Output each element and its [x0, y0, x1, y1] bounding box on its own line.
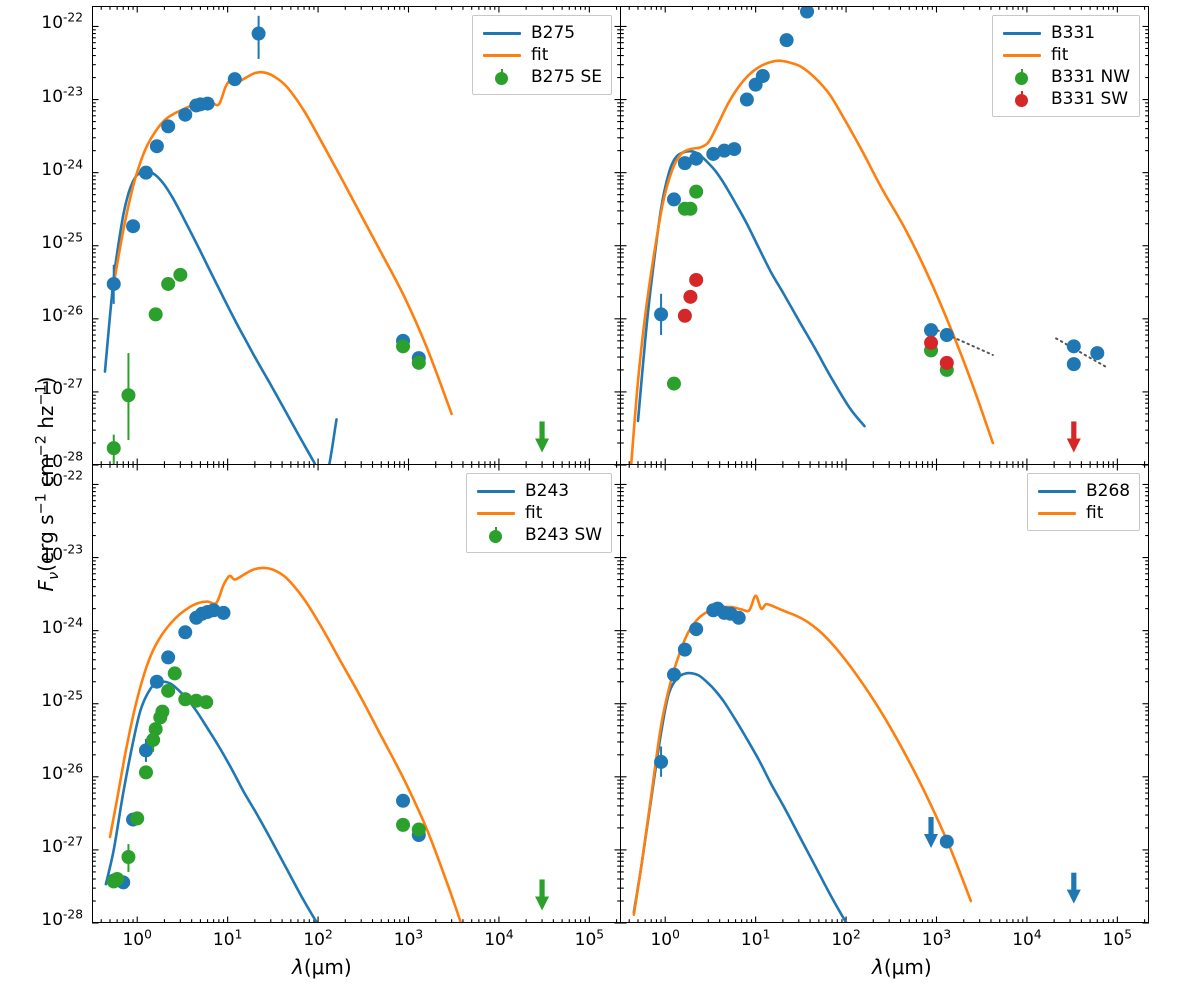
data-point-B243-SW [155, 705, 169, 719]
legend-label: B331 NW [1043, 67, 1130, 87]
legend-B331: B331fitB331 NWB331 SW [992, 15, 1140, 117]
legend-line-swatch [481, 44, 523, 66]
data-point-B331-SW [689, 273, 703, 287]
legend-entry-fit[interactable]: fit [481, 44, 602, 66]
legend-entry-fit[interactable]: fit [1036, 502, 1130, 524]
legend-line [483, 32, 521, 35]
legend-entry-B243[interactable]: B243 [475, 480, 602, 502]
legend-label: B243 [517, 481, 569, 501]
legend-entry-fit[interactable]: fit [1001, 44, 1130, 66]
legend-label: B331 [1043, 23, 1095, 43]
data-point-B243-photometry [217, 606, 231, 620]
legend-entry-B275-SE[interactable]: B275 SE [481, 66, 602, 88]
y-tick--24-p0: 10-24 [41, 160, 83, 180]
data-point-B275-SE [107, 441, 121, 455]
legend-line [483, 54, 521, 57]
data-point-B331-photometry [756, 69, 770, 83]
data-point-B331-photometry [924, 323, 938, 337]
legend-B243: B243fitB243 SW [466, 473, 612, 553]
upper-limit-arrow [535, 879, 549, 910]
data-point-B275-photometry [178, 108, 192, 122]
data-point-B268-photometry [654, 755, 668, 769]
data-point-B243-SW [110, 872, 124, 886]
x-tick-0-p0: 100 [122, 930, 151, 950]
legend-B275: B275fitB275 SE [472, 15, 612, 95]
y-tick--23-p0: 10-23 [41, 87, 83, 107]
upper-limit-arrow [924, 817, 938, 848]
data-point-B275-SE [173, 268, 187, 282]
legend-label: fit [1043, 45, 1068, 65]
legend-marker-swatch [481, 66, 523, 88]
data-point-B331-photometry [727, 142, 741, 156]
data-point-B243-SW [130, 811, 144, 825]
legend-entry-B275[interactable]: B275 [481, 22, 602, 44]
y-tick--23-p1: 10-23 [41, 545, 83, 565]
x-tick-4-p1: 104 [1012, 930, 1041, 950]
data-point-B331-SW [924, 336, 938, 350]
legend-line [1038, 490, 1076, 493]
data-point-B331-SW [940, 356, 954, 370]
y-tick--25-p1: 10-25 [41, 691, 83, 711]
y-tick--26-p0: 10-26 [41, 306, 83, 326]
panel-series-B268 [634, 596, 1081, 947]
data-point-B275-SE [412, 356, 426, 370]
data-point-B275-SE [161, 277, 175, 291]
data-point-B275-photometry [252, 27, 266, 41]
data-point-B243-SW [412, 823, 426, 837]
data-point-B268-photometry [678, 643, 692, 657]
data-point-B275-SE [396, 339, 410, 353]
data-point-B268-photometry [940, 835, 954, 849]
data-point-B331-SW [678, 309, 692, 323]
x-tick-5-p1: 105 [1103, 930, 1132, 950]
upper-limit-arrow [1067, 421, 1081, 452]
y-tick--27-p1: 10-27 [41, 837, 83, 857]
legend-line-swatch [1036, 502, 1078, 524]
y-tick--24-p1: 10-24 [41, 618, 83, 638]
upper-limit-arrow [535, 421, 549, 452]
data-point-B331-photometry [667, 192, 681, 206]
curve-B275 [105, 171, 337, 483]
data-point-B331-NW [667, 377, 681, 391]
y-tick--26-p1: 10-26 [41, 764, 83, 784]
legend-marker-swatch [1001, 88, 1043, 110]
upper-limit-arrow [1067, 873, 1081, 904]
legend-label: fit [517, 503, 542, 523]
y-tick--27-p0: 10-27 [41, 379, 83, 399]
data-point-B243-SW [121, 850, 135, 864]
data-point-B331-photometry [689, 152, 703, 166]
legend-entry-B331[interactable]: B331 [1001, 22, 1130, 44]
data-point-B331-photometry [740, 93, 754, 107]
curve-B268 [634, 673, 865, 946]
legend-label: B268 [1078, 481, 1130, 501]
legend-entry-B268[interactable]: B268 [1036, 480, 1130, 502]
data-point-B268-photometry [667, 668, 681, 682]
legend-line [477, 490, 515, 493]
data-point-B268-photometry [689, 622, 703, 636]
legend-marker [1015, 69, 1028, 85]
data-point-B275-photometry [126, 219, 140, 233]
legend-entry-B331-NW[interactable]: B331 NW [1001, 66, 1130, 88]
legend-line [1003, 32, 1041, 35]
data-point-B243-photometry [178, 625, 192, 639]
data-point-B243-SW [396, 818, 410, 832]
y-tick--22-p1: 10-22 [41, 471, 83, 491]
y-tick--28-p1: 10-28 [41, 910, 83, 930]
data-point-B243-SW [161, 684, 175, 698]
legend-line-swatch [1001, 22, 1043, 44]
data-point-B331-photometry [1067, 339, 1081, 353]
data-point-B331-photometry [780, 33, 794, 47]
y-tick--22-p0: 10-22 [41, 13, 83, 33]
legend-label: B275 SE [523, 67, 602, 87]
legend-label: fit [1078, 503, 1103, 523]
data-point-B331-photometry [654, 307, 668, 321]
data-point-B243-photometry [396, 794, 410, 808]
data-point-B275-photometry [228, 72, 242, 86]
x-tick-4-p0: 104 [484, 930, 513, 950]
data-point-B331-photometry [800, 5, 814, 19]
x-tick-2-p1: 102 [831, 930, 860, 950]
data-point-B331-photometry [1067, 357, 1081, 371]
legend-entry-fit[interactable]: fit [475, 502, 602, 524]
legend-line-swatch [475, 480, 517, 502]
data-point-B243-SW [199, 695, 213, 709]
legend-label: fit [523, 45, 548, 65]
legend-line [1003, 54, 1041, 57]
legend-marker [1015, 91, 1028, 107]
legend-marker-swatch [475, 524, 517, 546]
x-tick-1-p0: 101 [213, 930, 242, 950]
data-point-B331-photometry [940, 328, 954, 342]
legend-line-swatch [1036, 480, 1078, 502]
legend-marker-swatch [1001, 66, 1043, 88]
legend-marker [495, 69, 508, 85]
x-tick-3-p1: 103 [922, 930, 951, 950]
legend-line-swatch [1001, 44, 1043, 66]
panel-series-B243 [106, 568, 549, 948]
data-point-B243-SW [168, 666, 182, 680]
data-point-B268-photometry [732, 611, 746, 625]
data-point-B275-photometry [161, 119, 175, 133]
data-point-B331-photometry [1090, 346, 1104, 360]
legend-B268: B268fit [1027, 473, 1140, 531]
curve-fit [631, 61, 993, 465]
x-tick-0-p1: 100 [650, 930, 679, 950]
y-tick--25-p0: 10-25 [41, 233, 83, 253]
legend-entry-B243-SW[interactable]: B243 SW [475, 524, 602, 546]
legend-line-swatch [475, 502, 517, 524]
data-point-B275-photometry [150, 139, 164, 153]
legend-line [477, 512, 515, 515]
data-point-B275-photometry [139, 166, 153, 180]
data-point-B275-photometry [107, 277, 121, 291]
legend-line-swatch [481, 22, 523, 44]
x-tick-3-p0: 103 [394, 930, 423, 950]
data-point-B243-SW [139, 765, 153, 779]
data-point-B243-photometry [161, 650, 175, 664]
data-point-B331-NW [683, 202, 697, 216]
legend-label: B243 SW [517, 525, 602, 545]
x-tick-2-p0: 102 [303, 930, 332, 950]
data-point-B275-SE [149, 307, 163, 321]
x-tick-1-p1: 101 [741, 930, 770, 950]
data-point-B275-SE [121, 388, 135, 402]
legend-marker [489, 527, 502, 543]
legend-label: B331 SW [1043, 89, 1128, 109]
x-tick-5-p0: 105 [575, 930, 604, 950]
data-point-B243-photometry [150, 675, 164, 689]
data-point-B275-photometry [201, 97, 215, 111]
legend-entry-B331-SW[interactable]: B331 SW [1001, 88, 1130, 110]
legend-line [1038, 512, 1076, 515]
data-point-B331-SW [683, 290, 697, 304]
sed-figure: Fν(erg s−1 cm−2 hz−1) λ(μm) λ(μm) 10-221… [0, 0, 1200, 989]
curve-fit [110, 568, 461, 923]
legend-label: B275 [523, 23, 575, 43]
data-point-B331-NW [689, 185, 703, 199]
